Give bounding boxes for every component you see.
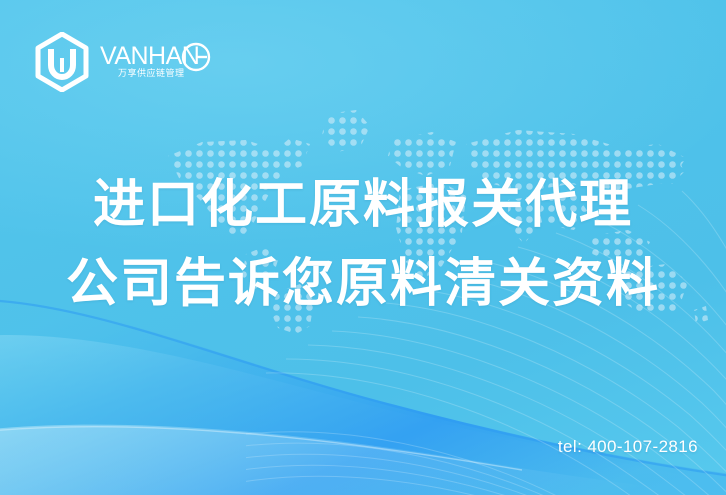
headline-line-2: 公司告诉您原料清关资料 <box>0 245 726 324</box>
promo-banner: VANHAN 万享供应链管理 进口化工原料报关代理 公司告诉您原料清关资料 te… <box>0 0 726 495</box>
contact-phone[interactable]: tel: 400-107-2816 <box>558 437 698 457</box>
brand-logo[interactable]: VANHAN 万享供应链管理 <box>34 32 212 92</box>
headline-line-1: 进口化工原料报关代理 <box>0 166 726 245</box>
brand-name-text: VANHAN <box>100 42 199 70</box>
brand-subtitle-text: 万享供应链管理 <box>118 67 185 78</box>
headline: 进口化工原料报关代理 公司告诉您原料清关资料 <box>0 166 726 324</box>
hexagon-u-logo-icon <box>34 32 90 92</box>
brand-wordmark: VANHAN 万享供应链管理 <box>100 40 212 84</box>
